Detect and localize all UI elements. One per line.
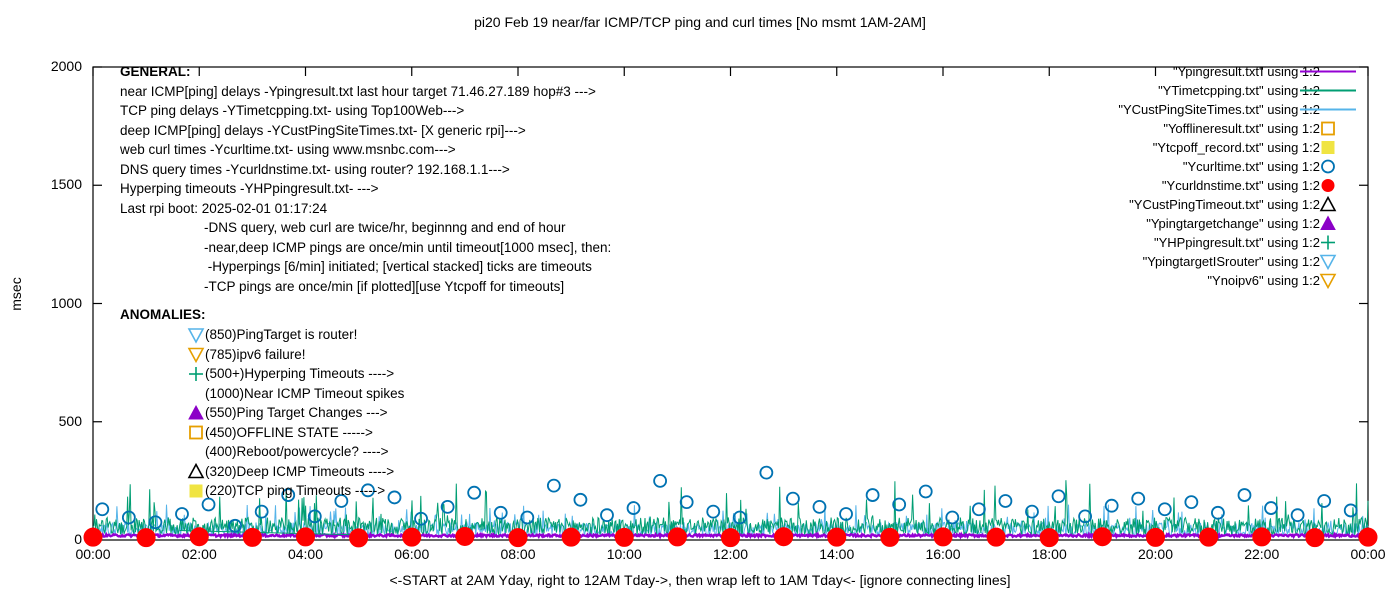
dns-query-point (881, 528, 899, 546)
legend-entry[interactable]: "YTimetcpping.txt" using 1:2 (1158, 81, 1320, 100)
curl-time-point (946, 512, 958, 524)
anomaly-item: (220)TCP ping Timeouts -----> (205, 481, 385, 501)
dns-query-point (243, 528, 261, 546)
gnuplot-chart: pi20 Feb 19 near/far ICMP/TCP ping and c… (0, 0, 1400, 600)
curl-time-point (707, 506, 719, 518)
legend-entry[interactable]: "Ycurldnstime.txt" using 1:2 (1162, 176, 1320, 195)
curl-time-point (681, 496, 693, 508)
dns-query-point (987, 528, 1005, 546)
curl-time-point (1185, 496, 1197, 508)
curl-time-point (1318, 495, 1330, 507)
legend-entry[interactable]: "YHPpingresult.txt" using 1:2 (1154, 233, 1320, 252)
curl-time-point (867, 489, 879, 501)
curl-time-point (176, 508, 188, 520)
dns-query-point (1253, 528, 1271, 546)
dns-query-point (562, 528, 580, 546)
dns-query-point (1093, 528, 1111, 546)
anomalies-heading: ANOMALIES: (120, 305, 206, 325)
general-indent-line: -TCP pings are once/min [if plotted][use… (120, 277, 611, 297)
dns-query-point (1147, 528, 1165, 546)
general-line: deep ICMP[ping] delays -YCustPingSiteTim… (120, 121, 611, 141)
curl-time-point (787, 493, 799, 505)
curl-time-point (1345, 504, 1357, 516)
dns-query-point (934, 528, 952, 546)
general-line: TCP ping delays -YTimetcpping.txt- using… (120, 101, 611, 121)
legend-entry[interactable]: "YpingtargetISrouter" using 1:2 (1143, 252, 1320, 271)
curl-time-point (813, 501, 825, 513)
anomaly-item: (1000)Near ICMP Timeout spikes (205, 384, 404, 404)
curl-time-point (1265, 502, 1277, 514)
anomaly-item: (850)PingTarget is router! (205, 325, 357, 345)
general-line: near ICMP[ping] delays -Ypingresult.txt … (120, 82, 611, 102)
curl-time-point (628, 502, 640, 514)
dns-query-point (190, 528, 208, 546)
curl-time-point (1238, 489, 1250, 501)
anomaly-item: (500+)Hyperping Timeouts ----> (205, 364, 394, 384)
curl-time-point (256, 506, 268, 518)
dns-query-point (1359, 528, 1377, 546)
dns-query-point (350, 529, 368, 547)
curl-time-point (388, 491, 400, 503)
anomaly-item: (320)Deep ICMP Timeouts ----> (205, 462, 394, 482)
dns-query-point (84, 528, 102, 546)
dns-query-point (828, 528, 846, 546)
legend-entry[interactable]: "Yofflineresult.txt" using 1:2 (1163, 119, 1320, 138)
legend-entry[interactable]: "Ytcpoff_record.txt" using 1:2 (1153, 138, 1320, 157)
dns-query-point (1306, 529, 1324, 547)
dns-query-point (668, 528, 686, 546)
curl-time-point (495, 507, 507, 519)
anomaly-item: (400)Reboot/powercycle? ----> (205, 442, 388, 462)
dns-query-point (775, 528, 793, 546)
dns-query-point (615, 528, 633, 546)
dns-query-point (403, 528, 421, 546)
curl-time-point (760, 467, 772, 479)
curl-time-point (1132, 493, 1144, 505)
legend-entry[interactable]: "YCustPingTimeout.txt" using 1:2 (1129, 195, 1320, 214)
curl-time-point (601, 509, 613, 521)
general-line: Hyperping timeouts -YHPpingresult.txt- -… (120, 179, 611, 199)
anomaly-item: (785)ipv6 failure! (205, 345, 306, 365)
legend-entry[interactable]: "Ypingresult.txt" using 1:2 (1173, 62, 1320, 81)
curl-time-point (973, 503, 985, 515)
dns-query-point (297, 528, 315, 546)
legend-entry[interactable]: "YCustPingSiteTimes.txt" using 1:2 (1118, 100, 1320, 119)
legend-entry[interactable]: "Ypingtargetchange" using 1:2 (1146, 214, 1320, 233)
curl-time-point (1053, 490, 1065, 502)
curl-time-point (468, 487, 480, 499)
curl-time-point (1106, 500, 1118, 512)
curl-time-point (999, 495, 1011, 507)
curl-time-point (1292, 509, 1304, 521)
dns-query-point (1200, 528, 1218, 546)
curl-time-point (1212, 507, 1224, 519)
dns-query-point (456, 527, 474, 545)
curl-time-point (574, 494, 586, 506)
general-annotation-block: GENERAL:near ICMP[ping] delays -Ypingres… (120, 62, 611, 296)
general-line: Last rpi boot: 2025-02-01 01:17:24 (120, 199, 611, 219)
anomaly-item: (550)Ping Target Changes ---> (205, 403, 387, 423)
dns-query-point (509, 529, 527, 547)
dns-query-point (1040, 529, 1058, 547)
general-line: DNS query times -Ycurldnstime.txt- using… (120, 160, 611, 180)
dns-query-point (137, 529, 155, 547)
legend-entry[interactable]: "Ycurltime.txt" using 1:2 (1183, 157, 1320, 176)
curl-time-point (654, 475, 666, 487)
dns-query-point (722, 529, 740, 547)
general-indent-line: -Hyperpings [6/min] initiated; [vertical… (120, 257, 611, 277)
anomaly-item: (450)OFFLINE STATE -----> (205, 423, 373, 443)
curl-time-point (548, 480, 560, 492)
curl-time-point (1159, 503, 1171, 515)
general-indent-line: -DNS query, web curl are twice/hr, begin… (120, 218, 611, 238)
curl-time-point (920, 486, 932, 498)
general-indent-line: -near,deep ICMP pings are once/min until… (120, 238, 611, 258)
curl-time-point (96, 503, 108, 515)
legend-entry[interactable]: "Ynoipv6" using 1:2 (1207, 271, 1320, 290)
general-heading: GENERAL: (120, 62, 611, 82)
general-line: web curl times -Ycurltime.txt- using www… (120, 140, 611, 160)
